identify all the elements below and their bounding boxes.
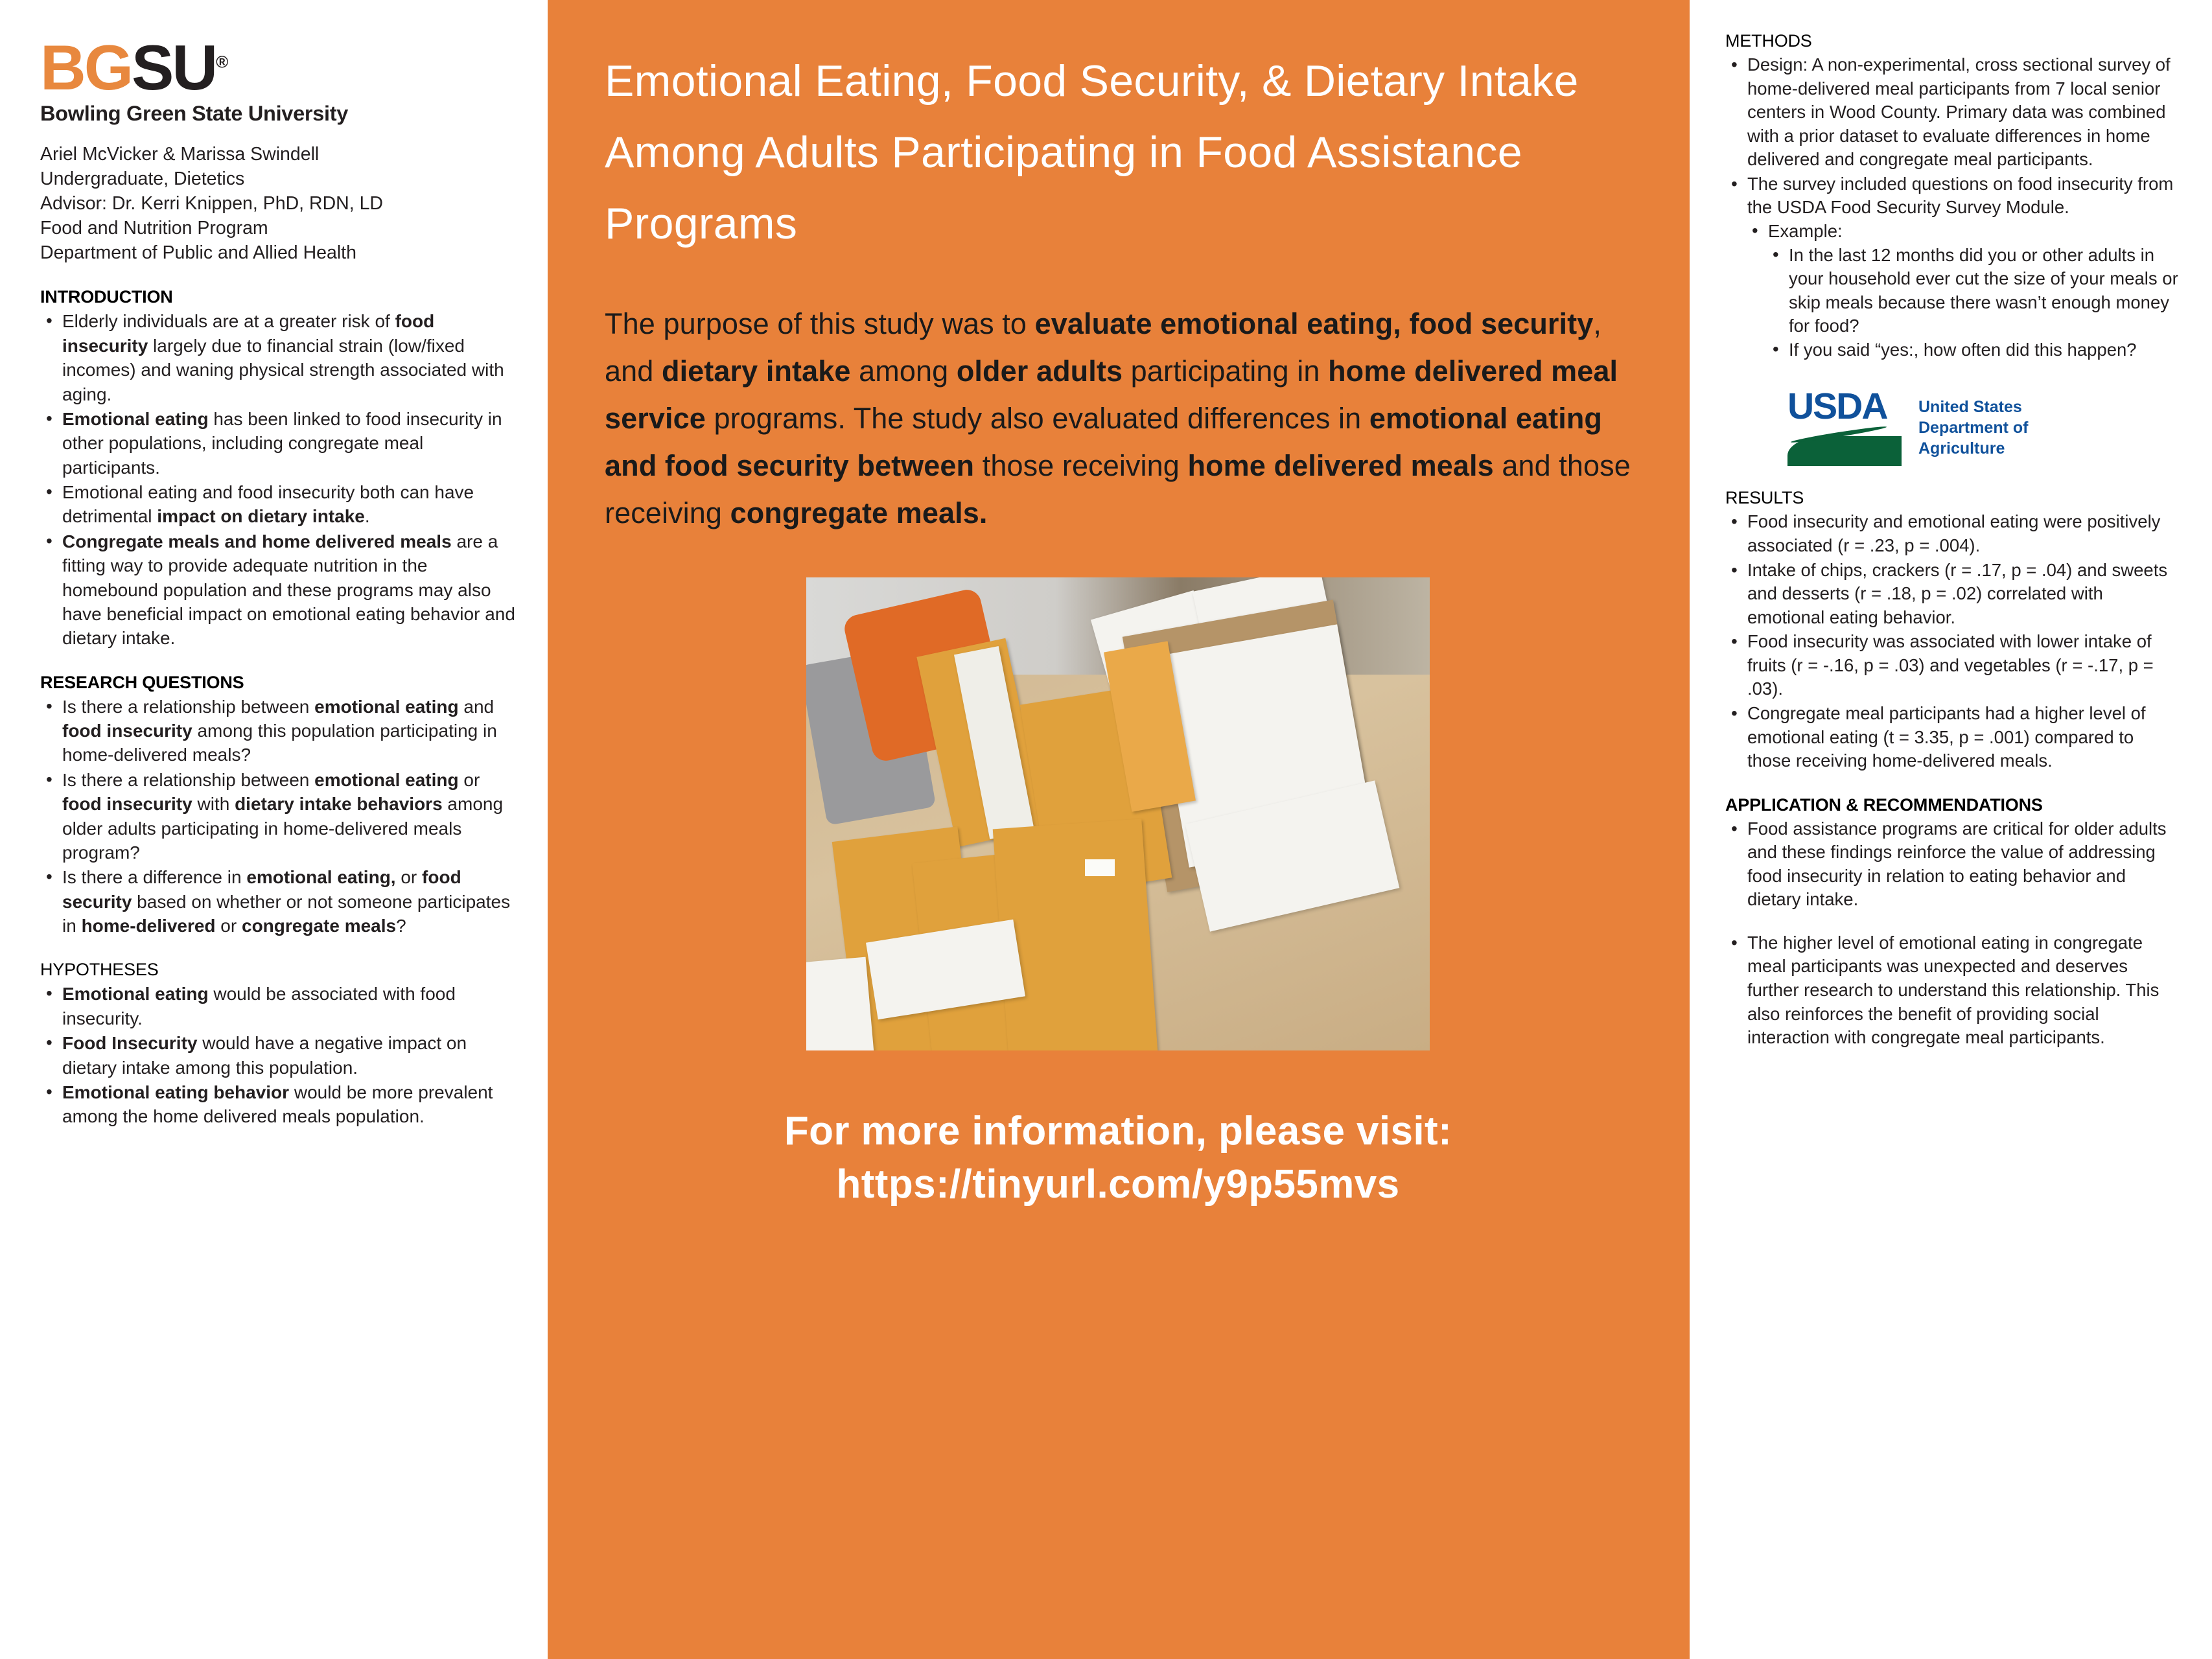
list-item: Is there a relationship between emotiona… bbox=[40, 768, 518, 865]
call-to-action: For more information, please visit: http… bbox=[605, 1105, 1631, 1212]
application-list: Food assistance programs are critical fo… bbox=[1725, 817, 2181, 1050]
university-name: Bowling Green State University bbox=[40, 102, 518, 126]
list-item: Food insecurity was associated with lowe… bbox=[1725, 630, 2181, 701]
registered-mark-icon: ® bbox=[216, 52, 228, 71]
list-item: Is there a difference in emotional eatin… bbox=[40, 865, 518, 938]
usda-agency-name: United States Department of Agriculture bbox=[1918, 397, 2028, 459]
research-questions-list: Is there a relationship between emotiona… bbox=[40, 695, 518, 938]
list-item: The higher level of emotional eating in … bbox=[1725, 931, 2181, 1050]
section-heading-hypotheses: HYPOTHESES bbox=[40, 960, 518, 980]
study-photo bbox=[806, 577, 1430, 1050]
author-block: Ariel McVicker & Marissa Swindell Underg… bbox=[40, 143, 518, 265]
methods-list: Design: A non-experimental, cross sectio… bbox=[1725, 53, 2181, 362]
author-program: Undergraduate, Dietetics bbox=[40, 167, 518, 192]
section-heading-results: RESULTS bbox=[1725, 488, 2181, 508]
list-item: Emotional eating behavior would be more … bbox=[40, 1080, 518, 1129]
example-label: Example: bbox=[1768, 221, 1843, 241]
list-item: Emotional eating has been linked to food… bbox=[40, 407, 518, 480]
list-item: Congregate meals and home delivered meal… bbox=[40, 529, 518, 651]
paper-stack bbox=[806, 957, 876, 1050]
usda-line-1: United States bbox=[1918, 397, 2028, 417]
wordmark-bg: BG bbox=[40, 32, 132, 103]
author-names: Ariel McVicker & Marissa Swindell bbox=[40, 143, 518, 167]
list-item-text: The survey included questions on food in… bbox=[1747, 174, 2173, 218]
envelope-tag bbox=[1085, 859, 1115, 876]
section-heading-application: APPLICATION & RECOMMENDATIONS bbox=[1725, 795, 2181, 815]
page-title: Emotional Eating, Food Security, & Dieta… bbox=[605, 45, 1631, 259]
list-item: Food insecurity and emotional eating wer… bbox=[1725, 510, 2181, 557]
section-heading-introduction: INTRODUCTION bbox=[40, 287, 518, 307]
list-item: Congregate meal participants had a highe… bbox=[1725, 702, 2181, 773]
purpose-statement: The purpose of this study was to evaluat… bbox=[605, 301, 1631, 537]
list-item: Food assistance programs are critical fo… bbox=[1725, 817, 2181, 912]
poster-root: BGSU® Bowling Green State University Ari… bbox=[0, 0, 2212, 1659]
author-department: Department of Public and Allied Health bbox=[40, 241, 518, 266]
section-heading-research-questions: RESEARCH QUESTIONS bbox=[40, 673, 518, 693]
usda-letters: USDA bbox=[1787, 389, 1902, 424]
right-column: METHODS Design: A non-experimental, cros… bbox=[1690, 0, 2212, 1659]
left-column: BGSU® Bowling Green State University Ari… bbox=[0, 0, 548, 1659]
author-dept-program: Food and Nutrition Program bbox=[40, 216, 518, 241]
usda-mark-icon: USDA bbox=[1787, 389, 1902, 466]
wordmark-su: SU bbox=[132, 32, 216, 103]
usda-logo: USDA United States Department of Agricul… bbox=[1787, 389, 2181, 466]
bgsu-logo: BGSU® Bowling Green State University bbox=[40, 36, 518, 126]
list-item: Elderly individuals are at a greater ris… bbox=[40, 309, 518, 406]
photo-illustration bbox=[806, 577, 1430, 1050]
center-panel: Emotional Eating, Food Security, & Dieta… bbox=[548, 0, 1690, 1659]
section-heading-methods: METHODS bbox=[1725, 31, 2181, 51]
bgsu-wordmark: BGSU® bbox=[40, 36, 518, 99]
list-item: Intake of chips, crackers (r = .17, p = … bbox=[1725, 559, 2181, 630]
usda-line-3: Agriculture bbox=[1918, 438, 2028, 459]
methods-example-questions: In the last 12 months did you or other a… bbox=[1768, 244, 2181, 362]
list-item: Example: In the last 12 months did you o… bbox=[1747, 220, 2181, 362]
usda-swoosh-icon bbox=[1787, 426, 1902, 466]
methods-example-list: Example: In the last 12 months did you o… bbox=[1747, 220, 2181, 362]
hypotheses-list: Emotional eating would be associated wit… bbox=[40, 982, 518, 1128]
list-item: Is there a relationship between emotiona… bbox=[40, 695, 518, 767]
introduction-list: Elderly individuals are at a greater ris… bbox=[40, 309, 518, 650]
list-item: The survey included questions on food in… bbox=[1725, 172, 2181, 362]
author-advisor: Advisor: Dr. Kerri Knippen, PhD, RDN, LD bbox=[40, 192, 518, 216]
results-list: Food insecurity and emotional eating wer… bbox=[1725, 510, 2181, 772]
list-item: In the last 12 months did you or other a… bbox=[1768, 244, 2181, 338]
list-item: Emotional eating and food insecurity bot… bbox=[40, 480, 518, 529]
list-item: Emotional eating would be associated wit… bbox=[40, 982, 518, 1030]
usda-line-2: Department of bbox=[1918, 417, 2028, 438]
list-item: Food Insecurity would have a negative im… bbox=[40, 1031, 518, 1080]
list-item: Design: A non-experimental, cross sectio… bbox=[1725, 53, 2181, 172]
manila-envelope bbox=[993, 818, 1158, 1050]
cta-line-1: For more information, please visit: bbox=[605, 1105, 1631, 1158]
cta-url[interactable]: https://tinyurl.com/y9p55mvs bbox=[605, 1158, 1631, 1211]
list-item: If you said “yes:, how often did this ha… bbox=[1768, 338, 2181, 362]
